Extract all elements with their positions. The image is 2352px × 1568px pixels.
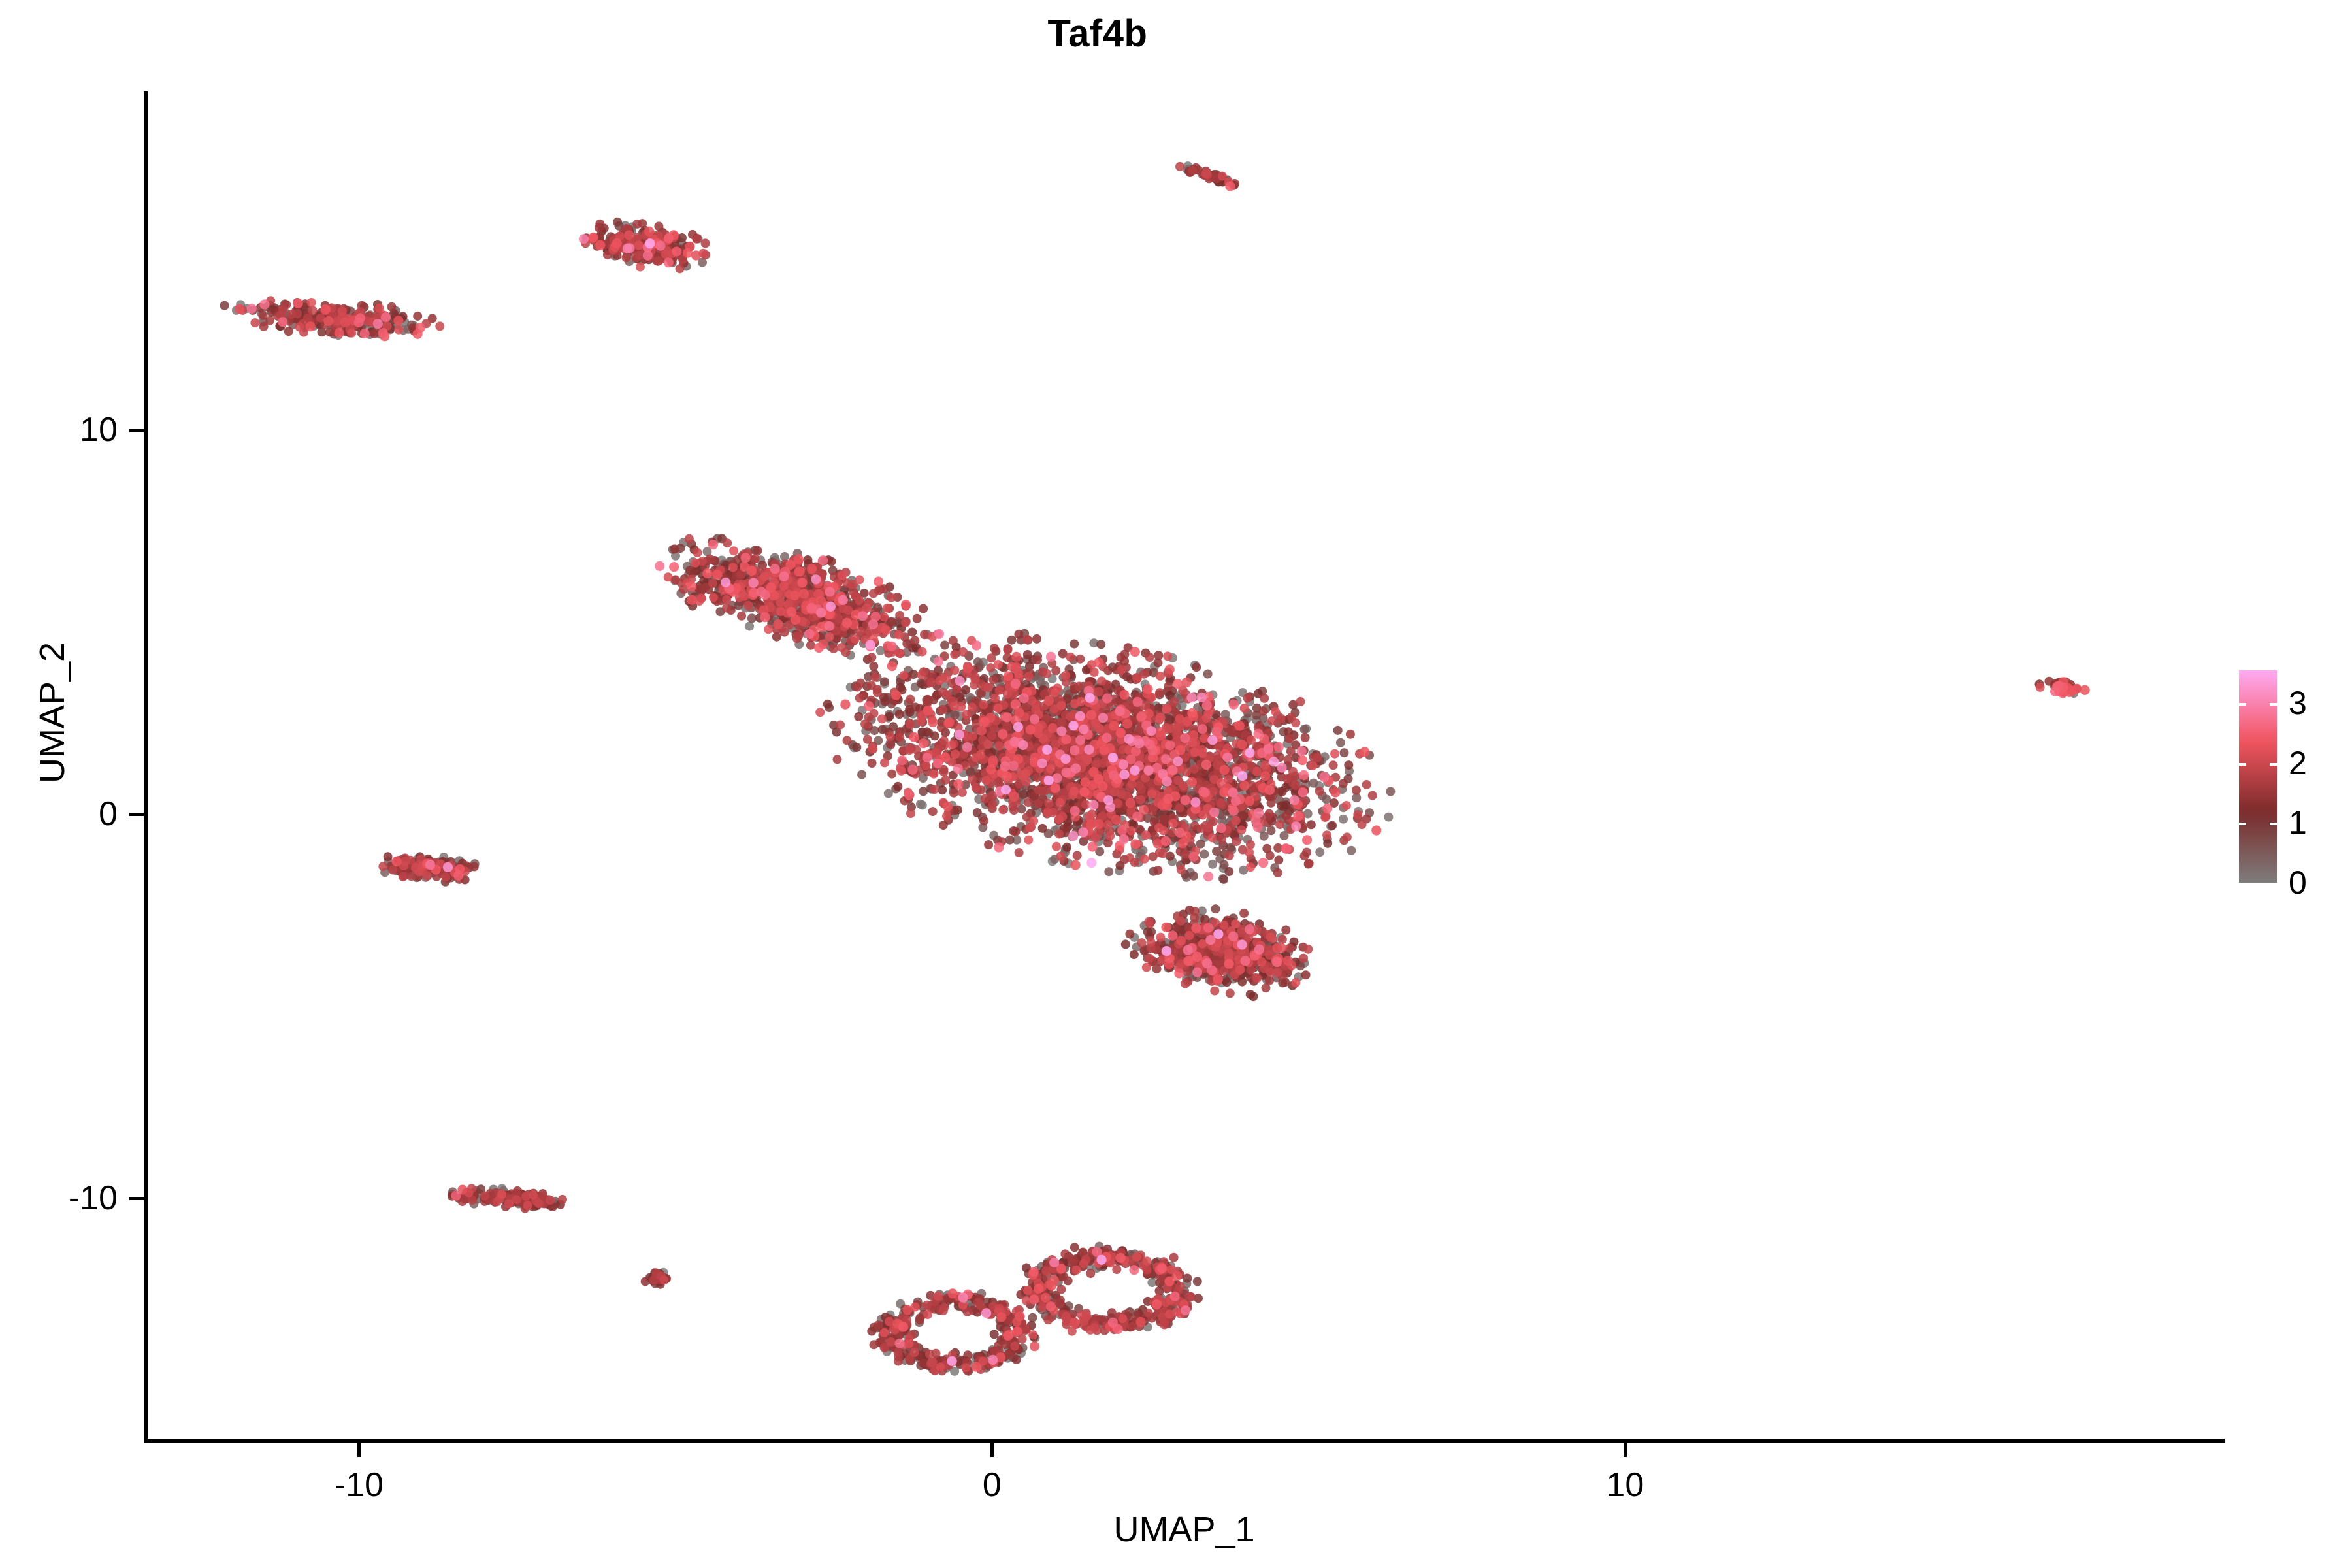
scatter-point bbox=[894, 1357, 903, 1366]
scatter-point bbox=[1259, 707, 1268, 716]
scatter-point bbox=[1007, 636, 1017, 645]
scatter-point bbox=[1096, 640, 1105, 649]
scatter-point bbox=[1217, 834, 1226, 843]
scatter-point bbox=[1024, 798, 1033, 807]
scatter-point bbox=[1028, 1313, 1037, 1322]
scatter-point bbox=[1323, 839, 1332, 848]
scatter-point bbox=[1362, 780, 1371, 789]
scatter-point bbox=[949, 789, 958, 798]
scatter-point bbox=[895, 611, 904, 620]
scatter-point bbox=[1266, 851, 1275, 860]
scatter-point bbox=[641, 1277, 650, 1286]
scatter-point bbox=[887, 617, 896, 627]
scatter-point bbox=[1300, 725, 1309, 734]
scatter-point bbox=[988, 676, 998, 685]
scatter-point bbox=[938, 785, 947, 794]
scatter-point bbox=[1246, 990, 1255, 999]
scatter-point bbox=[863, 735, 872, 744]
scatter-point bbox=[1281, 926, 1290, 935]
scatter-point bbox=[853, 683, 862, 692]
scatter-point bbox=[1315, 787, 1324, 796]
scatter-point bbox=[1208, 860, 1217, 869]
scatter-point bbox=[833, 755, 842, 764]
scatter-point bbox=[1278, 787, 1287, 796]
scatter-point bbox=[920, 630, 929, 639]
scatter-point bbox=[1267, 826, 1276, 835]
scatter-point bbox=[930, 731, 939, 740]
scatter-point bbox=[259, 322, 269, 331]
scatter-point bbox=[1003, 653, 1012, 662]
scatter-point bbox=[973, 1298, 983, 1307]
scatter-point bbox=[1301, 970, 1311, 979]
scatter-point bbox=[1145, 653, 1154, 662]
scatter-point bbox=[869, 589, 878, 598]
scatter-point bbox=[1015, 848, 1024, 857]
scatter-point bbox=[1260, 694, 1269, 703]
scatter-point bbox=[829, 644, 838, 653]
scatter-point bbox=[1164, 682, 1173, 691]
scatter-point bbox=[1344, 760, 1353, 770]
scatter-point bbox=[1352, 786, 1361, 795]
scatter-point bbox=[919, 787, 928, 796]
scatter-point bbox=[654, 221, 663, 231]
scatter-point bbox=[1060, 1249, 1070, 1258]
scatter-point bbox=[1315, 847, 1324, 857]
scatter-point bbox=[803, 555, 812, 564]
scatter-point bbox=[1346, 730, 1355, 739]
scatter-point bbox=[1121, 939, 1130, 949]
scatter-point bbox=[1056, 1285, 1066, 1294]
scatter-point bbox=[1070, 640, 1079, 649]
scatter-point bbox=[1023, 650, 1032, 659]
scatter-point bbox=[1104, 867, 1113, 876]
scatter-point bbox=[220, 301, 229, 310]
scatter-point bbox=[284, 327, 293, 336]
scatter-point bbox=[654, 256, 663, 265]
scatter-point bbox=[1033, 655, 1042, 664]
scatter-point bbox=[1038, 824, 1047, 833]
scatter-point bbox=[939, 768, 949, 777]
scatter-point bbox=[1032, 634, 1041, 644]
scatter-point bbox=[940, 641, 949, 650]
scatter-point bbox=[387, 302, 397, 312]
scatter-point bbox=[1224, 867, 1233, 876]
scatter-point bbox=[1303, 809, 1313, 819]
scatter-point bbox=[1307, 820, 1316, 829]
scatter-point bbox=[1274, 855, 1283, 864]
scatter-point bbox=[1219, 875, 1228, 884]
scatter-point bbox=[1285, 734, 1294, 743]
scatter-point bbox=[1075, 655, 1085, 664]
scatter-point bbox=[860, 719, 870, 728]
scatter-point bbox=[1277, 801, 1286, 810]
figure-root: Taf4b 100-10 -10010 UMAP_1 UMAP_2 3210 bbox=[0, 0, 2352, 1568]
scatter-point bbox=[1193, 1277, 1202, 1286]
scatter-point bbox=[990, 644, 999, 653]
scatter-point bbox=[622, 253, 631, 262]
scatter-point bbox=[1155, 1286, 1164, 1296]
scatter-point bbox=[961, 685, 970, 694]
scatter-point bbox=[1239, 909, 1249, 918]
scatter-point bbox=[1190, 913, 1199, 922]
scatter-point bbox=[919, 604, 928, 613]
scatter-point bbox=[1226, 988, 1235, 998]
scatter-point bbox=[939, 821, 948, 830]
scatter-point bbox=[854, 712, 863, 721]
scatter-point bbox=[723, 538, 732, 547]
scatter-point bbox=[843, 736, 852, 745]
scatter-point bbox=[1154, 866, 1163, 875]
scatter-point bbox=[747, 613, 757, 623]
scatter-point bbox=[1043, 1315, 1053, 1324]
scatter-point bbox=[1282, 774, 1292, 783]
scatter-point bbox=[1339, 779, 1348, 788]
scatter-point bbox=[1033, 773, 1042, 782]
scatter-point bbox=[737, 612, 746, 621]
scatter-point bbox=[1386, 787, 1395, 796]
scatter-point bbox=[1144, 1309, 1153, 1318]
scatter-point bbox=[894, 1348, 903, 1357]
scatter-point bbox=[1005, 836, 1015, 845]
scatter-point bbox=[692, 235, 701, 244]
scatter-point bbox=[869, 662, 878, 671]
scatter-point bbox=[852, 743, 861, 752]
scatter-point bbox=[973, 808, 982, 817]
scatter-point bbox=[906, 695, 915, 704]
scatter-point bbox=[1340, 748, 1349, 757]
scatter-point bbox=[1075, 682, 1084, 691]
scatter-point bbox=[1169, 1253, 1179, 1262]
scatter-point bbox=[887, 770, 896, 779]
scatter-point bbox=[753, 546, 762, 555]
scatter-point bbox=[1062, 843, 1071, 852]
scatter-point bbox=[1273, 868, 1282, 877]
scatter-point bbox=[1333, 726, 1343, 735]
scatter-point bbox=[915, 1315, 924, 1324]
scatter-point bbox=[1017, 804, 1026, 813]
scatter-point bbox=[1200, 850, 1209, 859]
scatter-point bbox=[1188, 166, 1197, 175]
scatter-point bbox=[1329, 760, 1338, 770]
scatter-point bbox=[751, 554, 760, 563]
scatter-point bbox=[685, 566, 694, 575]
scatter-point bbox=[895, 710, 904, 719]
scatter-point bbox=[1262, 983, 1271, 992]
scatter-point bbox=[1009, 806, 1019, 815]
scatter-point bbox=[893, 782, 902, 791]
scatter-point bbox=[1154, 658, 1163, 667]
scatter-point bbox=[870, 1340, 879, 1349]
scatter-point bbox=[794, 632, 803, 641]
scatter-point bbox=[1296, 697, 1305, 706]
scatter-point bbox=[399, 872, 408, 881]
scatter-point bbox=[928, 807, 938, 816]
scatter-point bbox=[1192, 662, 1201, 672]
scatter-point bbox=[1189, 872, 1198, 881]
scatter-point bbox=[1339, 815, 1348, 824]
scatter-point bbox=[868, 759, 877, 768]
scatter-point bbox=[1305, 859, 1314, 868]
scatter-point bbox=[806, 641, 815, 650]
scatter-point bbox=[1155, 688, 1164, 697]
scatter-point bbox=[722, 604, 731, 613]
scatter-point bbox=[413, 312, 422, 321]
scatter-point bbox=[1328, 821, 1337, 830]
scatter-point bbox=[913, 614, 922, 623]
scatter-point bbox=[857, 770, 866, 779]
page-title: Taf4b bbox=[0, 12, 2195, 56]
scatter-point bbox=[1086, 1269, 1095, 1278]
scatter-point bbox=[1000, 1340, 1009, 1349]
scatter-point bbox=[1265, 809, 1274, 819]
scatter-point bbox=[1291, 781, 1300, 790]
scatter-point bbox=[867, 653, 876, 662]
scatter-point bbox=[1038, 787, 1047, 796]
scatter-point bbox=[384, 852, 393, 861]
scatter-point bbox=[1286, 747, 1296, 756]
scatter-point bbox=[1301, 733, 1310, 742]
scatter-point bbox=[895, 732, 904, 742]
scatter-point bbox=[1070, 1243, 1079, 1252]
scatter-point bbox=[873, 688, 882, 697]
scatter-point bbox=[470, 862, 479, 872]
scatter-point bbox=[949, 636, 958, 645]
scatter-point bbox=[855, 694, 864, 703]
scatter-point bbox=[595, 223, 604, 233]
scatter-point bbox=[613, 218, 622, 227]
scatter-point bbox=[910, 636, 919, 645]
scatter-plot-layer bbox=[144, 91, 2182, 1441]
scatter-point bbox=[1336, 738, 1345, 747]
scatter-point bbox=[1034, 799, 1043, 808]
scatter-point bbox=[1309, 779, 1318, 788]
scatter-point bbox=[1284, 755, 1293, 764]
scatter-point bbox=[923, 727, 932, 736]
scatter-point bbox=[701, 238, 710, 248]
scatter-point bbox=[916, 800, 925, 809]
scatter-point bbox=[880, 677, 889, 686]
scatter-point bbox=[676, 264, 685, 273]
scatter-point bbox=[1384, 813, 1393, 822]
scatter-point bbox=[558, 1195, 567, 1204]
scatter-point bbox=[1125, 930, 1134, 939]
scatter-point bbox=[938, 705, 947, 714]
scatter-point bbox=[1128, 1322, 1137, 1331]
scatter-point bbox=[979, 816, 988, 825]
scatter-point bbox=[1130, 950, 1139, 959]
scatter-point bbox=[1285, 943, 1294, 953]
scatter-point bbox=[1014, 630, 1023, 639]
scatter-point bbox=[1222, 977, 1232, 987]
scatter-point bbox=[867, 681, 876, 690]
scatter-point bbox=[1011, 827, 1021, 836]
scatter-point bbox=[1368, 791, 1377, 800]
scatter-point bbox=[1117, 653, 1126, 662]
scatter-point bbox=[880, 697, 889, 706]
scatter-point bbox=[670, 544, 679, 553]
scatter-point bbox=[941, 776, 950, 785]
scatter-point bbox=[1211, 904, 1220, 913]
scatter-point bbox=[745, 622, 754, 631]
scatter-point bbox=[886, 740, 895, 749]
scatter-point bbox=[1073, 851, 1082, 860]
scatter-point bbox=[984, 840, 993, 849]
scatter-point bbox=[1203, 670, 1213, 679]
scatter-point bbox=[1347, 846, 1356, 855]
scatter-point bbox=[987, 653, 996, 662]
scatter-point bbox=[632, 220, 642, 229]
scatter-point bbox=[823, 700, 832, 709]
scatter-point bbox=[874, 1320, 883, 1330]
